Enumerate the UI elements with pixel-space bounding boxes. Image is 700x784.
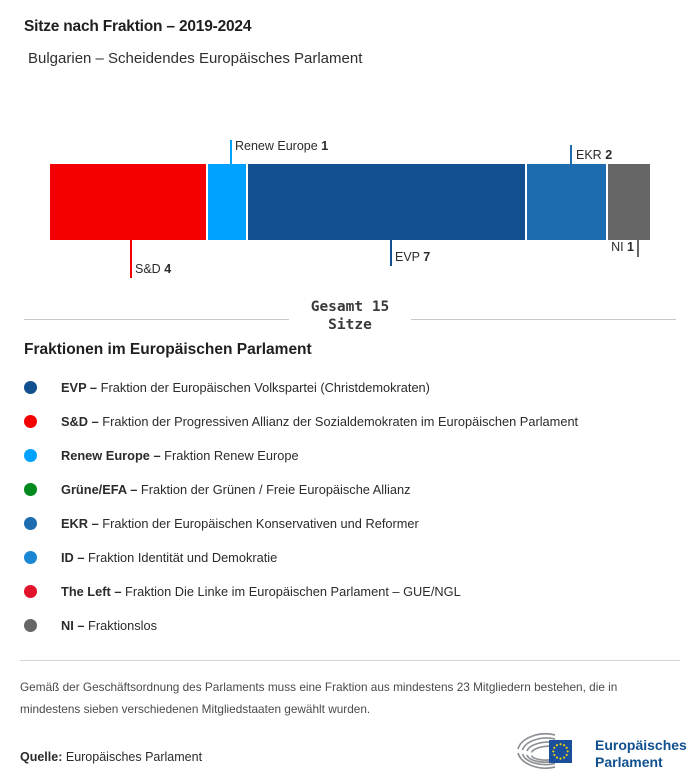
callout-renew-europe: Renew Europe 1 xyxy=(235,140,328,153)
ep-logo-line2: Parlament xyxy=(595,754,663,770)
legend-item-abbr: ID – xyxy=(61,550,84,565)
legend-item-abbr: EKR – xyxy=(61,516,99,531)
callout-ni: NI 1 xyxy=(567,241,634,254)
callout-ni-value: 1 xyxy=(627,240,634,254)
callout-evp: EVP 7 xyxy=(395,251,430,264)
leader-line-renew-europe xyxy=(230,140,232,164)
legend-item-abbr: Renew Europe – xyxy=(61,448,161,463)
legend-color-dot-icon xyxy=(24,619,37,632)
legend-item-text: S&D – Fraktion der Progressiven Allianz … xyxy=(61,414,578,429)
leader-line-ekr xyxy=(570,145,572,164)
legend-item-text: Grüne/EFA – Fraktion der Grünen / Freie … xyxy=(61,482,410,497)
legend-item-ekr[interactable]: EKR – Fraktion der Europäischen Konserva… xyxy=(24,506,684,540)
legend-item-gruene-efa[interactable]: Grüne/EFA – Fraktion der Grünen / Freie … xyxy=(24,472,684,506)
legend-item-desc: Fraktionslos xyxy=(88,618,157,633)
leader-line-evp xyxy=(390,240,392,266)
legend-item-desc: Fraktion Identität und Demokratie xyxy=(88,550,277,565)
bar-segment-renew-europe[interactable] xyxy=(208,164,248,240)
legend-item-desc: Fraktion Die Linke im Europäischen Parla… xyxy=(125,584,461,599)
seats-stacked-bar-chart: S&D 4 Renew Europe 1 EVP 7 EKR 2 NI 1 xyxy=(0,120,700,295)
source-value: Europäisches Parlament xyxy=(66,750,202,764)
footnote-divider xyxy=(20,660,680,661)
callout-evp-label: EVP xyxy=(395,250,420,264)
callout-renew-europe-value: 1 xyxy=(321,139,328,153)
ep-hemicycle-icon xyxy=(513,729,589,778)
legend-item-text: The Left – Fraktion Die Linke im Europäi… xyxy=(61,584,461,599)
legend-item-text: EVP – Fraktion der Europäischen Volkspar… xyxy=(61,380,430,395)
legend-color-dot-icon xyxy=(24,483,37,496)
callout-ekr-label: EKR xyxy=(576,148,602,162)
legend-item-abbr: The Left – xyxy=(61,584,121,599)
ep-logo-text: Europäisches Parlament xyxy=(595,737,687,769)
legend-item-text: Renew Europe – Fraktion Renew Europe xyxy=(61,448,299,463)
leader-line-sd xyxy=(130,240,132,278)
legend-heading: Fraktionen im Europäischen Parlament xyxy=(24,341,312,359)
legend-item-renew-europe[interactable]: Renew Europe – Fraktion Renew Europe xyxy=(24,438,684,472)
bar-segment-ni[interactable] xyxy=(608,164,650,240)
legend-item-text: NI – Fraktionslos xyxy=(61,618,157,633)
total-rule-right xyxy=(411,319,676,320)
callout-renew-europe-label: Renew Europe xyxy=(235,139,318,153)
callout-ekr-value: 2 xyxy=(605,148,612,162)
bar-segment-sd[interactable] xyxy=(50,164,208,240)
chart-header: Sitze nach Fraktion – 2019-2024 Bulgarie… xyxy=(24,18,684,67)
legend-item-ni[interactable]: NI – Fraktionslos xyxy=(24,608,684,642)
stacked-bar xyxy=(50,164,650,240)
legend-item-abbr: EVP – xyxy=(61,380,97,395)
legend-color-dot-icon xyxy=(24,449,37,462)
callout-sd-value: 4 xyxy=(164,262,171,276)
bar-segment-ekr[interactable] xyxy=(527,164,608,240)
ep-logo-line1: Europäisches xyxy=(595,737,687,753)
legend-item-desc: Fraktion der Progressiven Allianz der So… xyxy=(102,414,578,429)
legend-item-desc: Fraktion der Grünen / Freie Europäische … xyxy=(141,482,411,497)
legend-color-dot-icon xyxy=(24,551,37,564)
total-seats-line1: Gesamt 15 xyxy=(311,298,390,316)
leader-line-ni xyxy=(637,240,639,257)
legend-item-abbr: S&D – xyxy=(61,414,99,429)
source-label: Quelle: xyxy=(20,750,62,764)
callout-ni-label: NI xyxy=(611,240,624,254)
source-line: Quelle: Europäisches Parlament xyxy=(20,750,202,764)
legend-color-dot-icon xyxy=(24,415,37,428)
callout-sd: S&D 4 xyxy=(135,263,171,276)
callout-evp-value: 7 xyxy=(423,250,430,264)
legend-item-id[interactable]: ID – Fraktion Identität und Demokratie xyxy=(24,540,684,574)
legend-item-abbr: Grüne/EFA – xyxy=(61,482,137,497)
legend-item-abbr: NI – xyxy=(61,618,84,633)
legend-item-text: ID – Fraktion Identität und Demokratie xyxy=(61,550,277,565)
total-seats-label: Gesamt 15 Sitze xyxy=(289,298,412,334)
chart-subtitle: Bulgarien – Scheidendes Europäisches Par… xyxy=(28,50,684,67)
total-seats-line2: Sitze xyxy=(311,316,390,334)
legend-item-desc: Fraktion Renew Europe xyxy=(164,448,298,463)
legend-color-dot-icon xyxy=(24,585,37,598)
european-parliament-logo: Europäisches Parlament xyxy=(513,729,687,778)
callout-sd-label: S&D xyxy=(135,262,161,276)
legend-item-sd[interactable]: S&D – Fraktion der Progressiven Allianz … xyxy=(24,404,684,438)
legend-color-dot-icon xyxy=(24,381,37,394)
legend-item-desc: Fraktion der Europäischen Konservativen … xyxy=(102,516,419,531)
legend: EVP – Fraktion der Europäischen Volkspar… xyxy=(24,370,684,642)
legend-item-desc: Fraktion der Europäischen Volkspartei (C… xyxy=(101,380,430,395)
footnote-text: Gemäß der Geschäftsordnung des Parlament… xyxy=(20,677,680,721)
legend-item-the-left[interactable]: The Left – Fraktion Die Linke im Europäi… xyxy=(24,574,684,608)
callout-ekr: EKR 2 xyxy=(576,149,612,162)
footnote: Gemäß der Geschäftsordnung des Parlament… xyxy=(20,660,680,721)
total-seats-row: Gesamt 15 Sitze xyxy=(24,298,676,334)
legend-color-dot-icon xyxy=(24,517,37,530)
bar-segment-evp[interactable] xyxy=(248,164,527,240)
legend-item-evp[interactable]: EVP – Fraktion der Europäischen Volkspar… xyxy=(24,370,684,404)
total-rule-left xyxy=(24,319,289,320)
page-title: Sitze nach Fraktion – 2019-2024 xyxy=(24,18,684,36)
legend-item-text: EKR – Fraktion der Europäischen Konserva… xyxy=(61,516,419,531)
